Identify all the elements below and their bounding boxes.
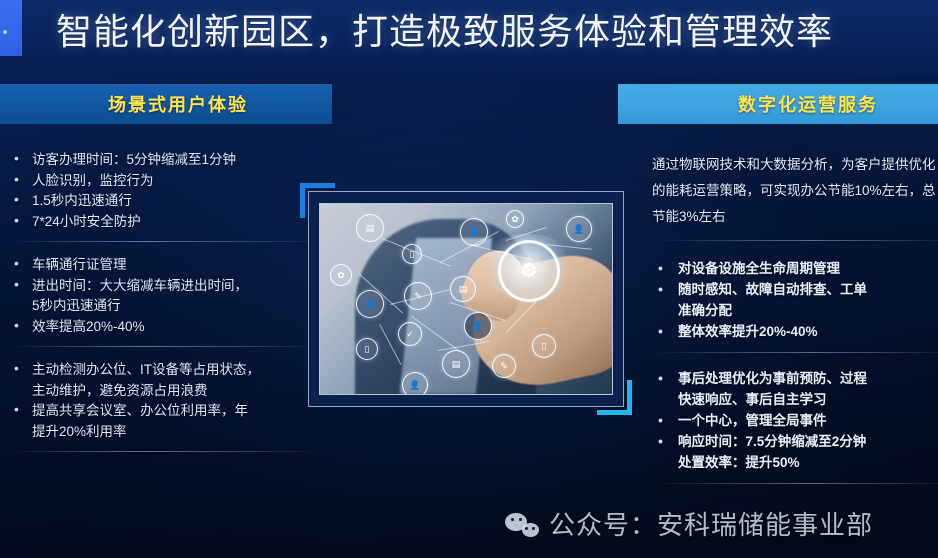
list-item: 提高共享会议室、办公位利用率，年 — [10, 401, 310, 421]
divider — [652, 483, 938, 484]
list-item: 事后处理优化为事前预防、过程 — [652, 369, 938, 389]
person-icon: 👤 — [356, 290, 384, 318]
list-item: 对设备设施全生命周期管理 — [652, 259, 938, 279]
right-block-1: 对设备设施全生命周期管理 随时感知、故障自动排查、工单 准确分配 整体效率提升2… — [652, 259, 938, 353]
list-item: 主动检测办公位、IT设备等占用状态， — [10, 360, 310, 380]
person-icon: 👤 — [566, 216, 592, 242]
intro-paragraph: 通过物联网技术和大数据分析，为客户提供优化的能耗运营策略，可实现办公节能10%左… — [652, 152, 938, 230]
left-content-column: 访客办理时间：5分钟缩减至1分钟 人脸识别，监控行为 1.5秒内迅速通行 7*2… — [10, 150, 310, 465]
list-item: 响应时间：7.5分钟缩减至2分钟 — [652, 432, 938, 452]
banner-digital-operations: 数字化运营服务 — [618, 84, 938, 124]
list-item-continuation: 5秒内迅速通行 — [10, 296, 310, 316]
list-item-continuation: 准确分配 — [652, 301, 938, 321]
list-item-continuation: 处置效率：提升50% — [652, 453, 938, 473]
person-icon: 👤 — [464, 312, 492, 340]
divider — [652, 240, 938, 241]
mobile-icon: ▯ — [532, 334, 556, 358]
center-image: ▤ ▯ 👤 ✿ 👤 ✿ 👤 ✎ ▤ ✓ ▯ 👤 ▤ 👤 ✎ ▯ ⚙ — [319, 203, 613, 395]
gears-small-icon: ✿ — [506, 210, 524, 228]
watermark: 公众号：安科瑞储能事业部 — [505, 505, 873, 542]
clipboard-icon: ▤ — [442, 350, 470, 378]
list-item: 效率提高20%-40% — [10, 317, 310, 337]
list-item: 人脸识别，监控行为 — [10, 171, 310, 191]
list-item-continuation: 提升20%利用率 — [10, 422, 310, 442]
list-item: 随时感知、故障自动排查、工单 — [652, 280, 938, 300]
list-item: 进出时间：大大缩减车辆进出时间， — [10, 276, 310, 296]
list-item-continuation: 快速响应、事后自主学习 — [652, 390, 938, 410]
list-item: 一个中心，管理全局事件 — [652, 411, 938, 431]
left-block-2-list: 车辆通行证管理 进出时间：大大缩减车辆进出时间， 5秒内迅速通行 效率提高20%… — [10, 255, 310, 336]
header-accent-block — [0, 0, 22, 56]
right-content-column: 通过物联网技术和大数据分析，为客户提供优化的能耗运营策略，可实现办公节能10%左… — [652, 152, 938, 497]
left-block-1-list: 访客办理时间：5分钟缩减至1分钟 人脸识别，监控行为 1.5秒内迅速通行 7*2… — [10, 150, 310, 231]
banner-right-label: 数字化运营服务 — [738, 91, 878, 117]
list-item: 车辆通行证管理 — [10, 255, 310, 275]
left-block-1: 访客办理时间：5分钟缩减至1分钟 人脸识别，监控行为 1.5秒内迅速通行 7*2… — [10, 150, 310, 242]
divider — [652, 352, 938, 353]
left-block-3-list: 主动检测办公位、IT设备等占用状态， 主动维护，避免资源占用浪费 提高共享会议室… — [10, 360, 310, 441]
pen-document-icon: ✎ — [492, 354, 516, 378]
person-icon: 👤 — [460, 218, 488, 246]
document-icon: ▤ — [450, 276, 476, 302]
slide-root: 智能化创新园区，打造极致服务体验和管理效率 场景式用户体验 数字化运营服务 访客… — [0, 0, 938, 558]
gear-icon: ⚙ — [498, 240, 560, 302]
banner-scenario-experience: 场景式用户体验 — [0, 84, 332, 124]
page-title: 智能化创新园区，打造极致服务体验和管理效率 — [56, 3, 833, 63]
divider — [10, 346, 310, 347]
mobile-icon: ▯ — [356, 338, 378, 360]
list-item: 访客办理时间：5分钟缩减至1分钟 — [10, 150, 310, 170]
person-icon: 👤 — [402, 372, 428, 395]
list-item-continuation: 主动维护，避免资源占用浪费 — [10, 381, 310, 401]
left-block-2: 车辆通行证管理 进出时间：大大缩减车辆进出时间， 5秒内迅速通行 效率提高20%… — [10, 255, 310, 347]
left-block-3: 主动检测办公位、IT设备等占用状态， 主动维护，避免资源占用浪费 提高共享会议室… — [10, 360, 310, 452]
right-block-2: 事后处理优化为事前预防、过程 快速响应、事后自主学习 一个中心，管理全局事件 响… — [652, 369, 938, 484]
check-icon: ✓ — [398, 322, 422, 346]
right-block-intro: 通过物联网技术和大数据分析，为客户提供优化的能耗运营策略，可实现办公节能10%左… — [652, 152, 938, 241]
gears-small-icon: ✿ — [330, 264, 352, 286]
list-item: 7*24小时安全防护 — [10, 212, 310, 232]
pen-document-icon: ✎ — [404, 282, 432, 310]
wechat-icon — [505, 511, 539, 537]
right-block-2-list: 事后处理优化为事前预防、过程 快速响应、事后自主学习 一个中心，管理全局事件 响… — [652, 369, 938, 473]
divider — [10, 241, 310, 242]
slide-header: 智能化创新园区，打造极致服务体验和管理效率 — [0, 0, 938, 74]
watermark-text: 公众号：安科瑞储能事业部 — [549, 505, 873, 542]
clipboard-icon: ▤ — [356, 214, 384, 242]
center-image-frame: ▤ ▯ 👤 ✿ 👤 ✿ 👤 ✎ ▤ ✓ ▯ 👤 ▤ 👤 ✎ ▯ ⚙ — [300, 183, 632, 415]
divider — [10, 451, 310, 452]
mobile-icon: ▯ — [402, 244, 422, 264]
right-block-1-list: 对设备设施全生命周期管理 随时感知、故障自动排查、工单 准确分配 整体效率提升2… — [652, 259, 938, 342]
list-item: 1.5秒内迅速通行 — [10, 191, 310, 211]
list-item: 整体效率提升20%-40% — [652, 322, 938, 342]
banner-left-label: 场景式用户体验 — [108, 91, 248, 117]
